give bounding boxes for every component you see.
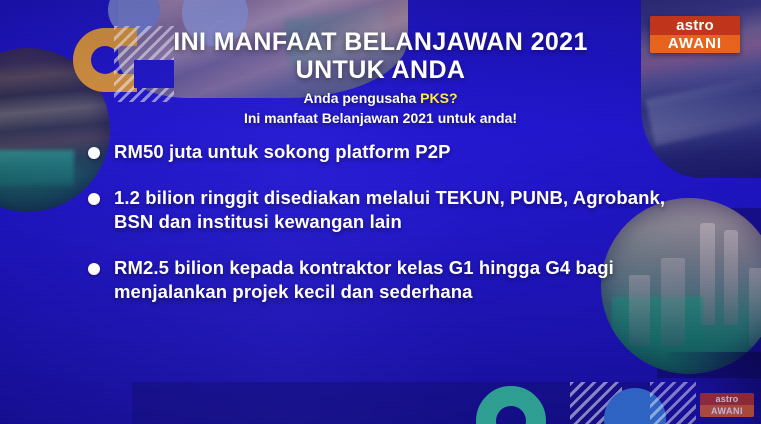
title-line-2: UNTUK ANDA [90, 56, 671, 84]
astro-awani-watermark: astro AWANI [700, 393, 754, 417]
subtitle: Anda pengusaha PKS? Ini manfaat Belanjaw… [0, 88, 761, 129]
pks-highlight: PKS? [420, 90, 457, 106]
subtitle-line-2: Ini manfaat Belanjawan 2021 untuk anda! [0, 108, 761, 128]
list-item: 1.2 bilion ringgit disediakan melalui TE… [88, 186, 671, 234]
bullet-dot-icon [88, 263, 100, 275]
logo-awani-text: AWANI [650, 35, 740, 53]
watermark-awani-text: AWANI [700, 405, 754, 417]
list-item: RM50 juta untuk sokong platform P2P [88, 140, 671, 164]
page-title: INI MANFAAT BELANJAWAN 2021 UNTUK ANDA [0, 28, 761, 85]
watermark-astro-text: astro [700, 393, 754, 405]
title-line-1: INI MANFAAT BELANJAWAN 2021 [173, 28, 588, 56]
list-item-label: 1.2 bilion ringgit disediakan melalui TE… [114, 186, 671, 234]
subtitle-question-text: Anda pengusaha [303, 90, 420, 106]
list-item-label: RM2.5 bilion kepada kontraktor kelas G1 … [114, 256, 671, 304]
benefits-list: RM50 juta untuk sokong platform P2P 1.2 … [88, 140, 671, 326]
broadcast-graphic-screen: INI MANFAAT BELANJAWAN 2021 UNTUK ANDA A… [0, 0, 761, 424]
list-item-label: RM50 juta untuk sokong platform P2P [114, 140, 451, 164]
subtitle-line-1: Anda pengusaha PKS? [0, 88, 761, 108]
list-item: RM2.5 bilion kepada kontraktor kelas G1 … [88, 256, 671, 304]
astro-awani-logo: astro AWANI [650, 16, 740, 53]
bullet-dot-icon [88, 147, 100, 159]
logo-astro-text: astro [650, 16, 740, 35]
bullet-dot-icon [88, 193, 100, 205]
